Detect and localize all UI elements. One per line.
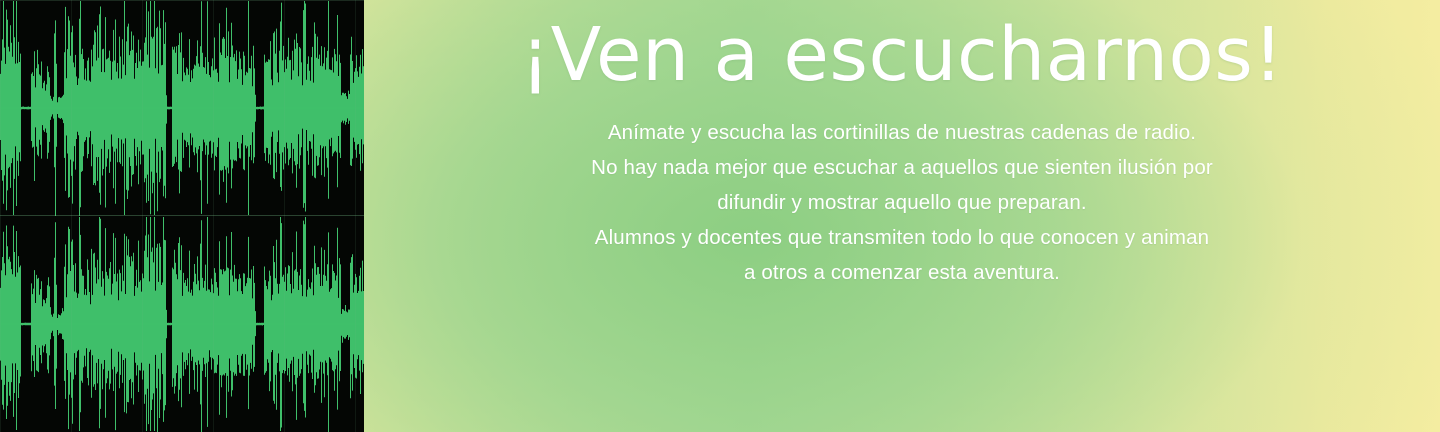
description-line-2: No hay nada mejor que escuchar a aquello… (397, 150, 1407, 185)
banner-text-block: ¡Ven a escucharnos! Anímate y escucha la… (364, 0, 1440, 432)
page-title: ¡Ven a escucharnos! (521, 14, 1284, 97)
waveform-channel-right (0, 216, 364, 432)
description-line-5: a otros a comenzar esta aventura. (397, 255, 1407, 290)
banner-description: Anímate y escucha las cortinillas de nue… (397, 115, 1407, 290)
waveform-channel-right-graphic (0, 216, 364, 432)
description-line-4: Alumnos y docentes que transmiten todo l… (397, 220, 1407, 255)
waveform-channel-left-graphic (0, 0, 364, 216)
description-line-3: difundir y mostrar aquello que preparan. (397, 185, 1407, 220)
waveform-top-rule (0, 0, 364, 1)
waveform-channel-left (0, 0, 364, 216)
description-line-1: Anímate y escucha las cortinillas de nue… (397, 115, 1407, 150)
audio-waveform-image (0, 0, 364, 432)
promo-banner: ¡Ven a escucharnos! Anímate y escucha la… (0, 0, 1440, 432)
waveform-channel-divider (0, 215, 364, 216)
